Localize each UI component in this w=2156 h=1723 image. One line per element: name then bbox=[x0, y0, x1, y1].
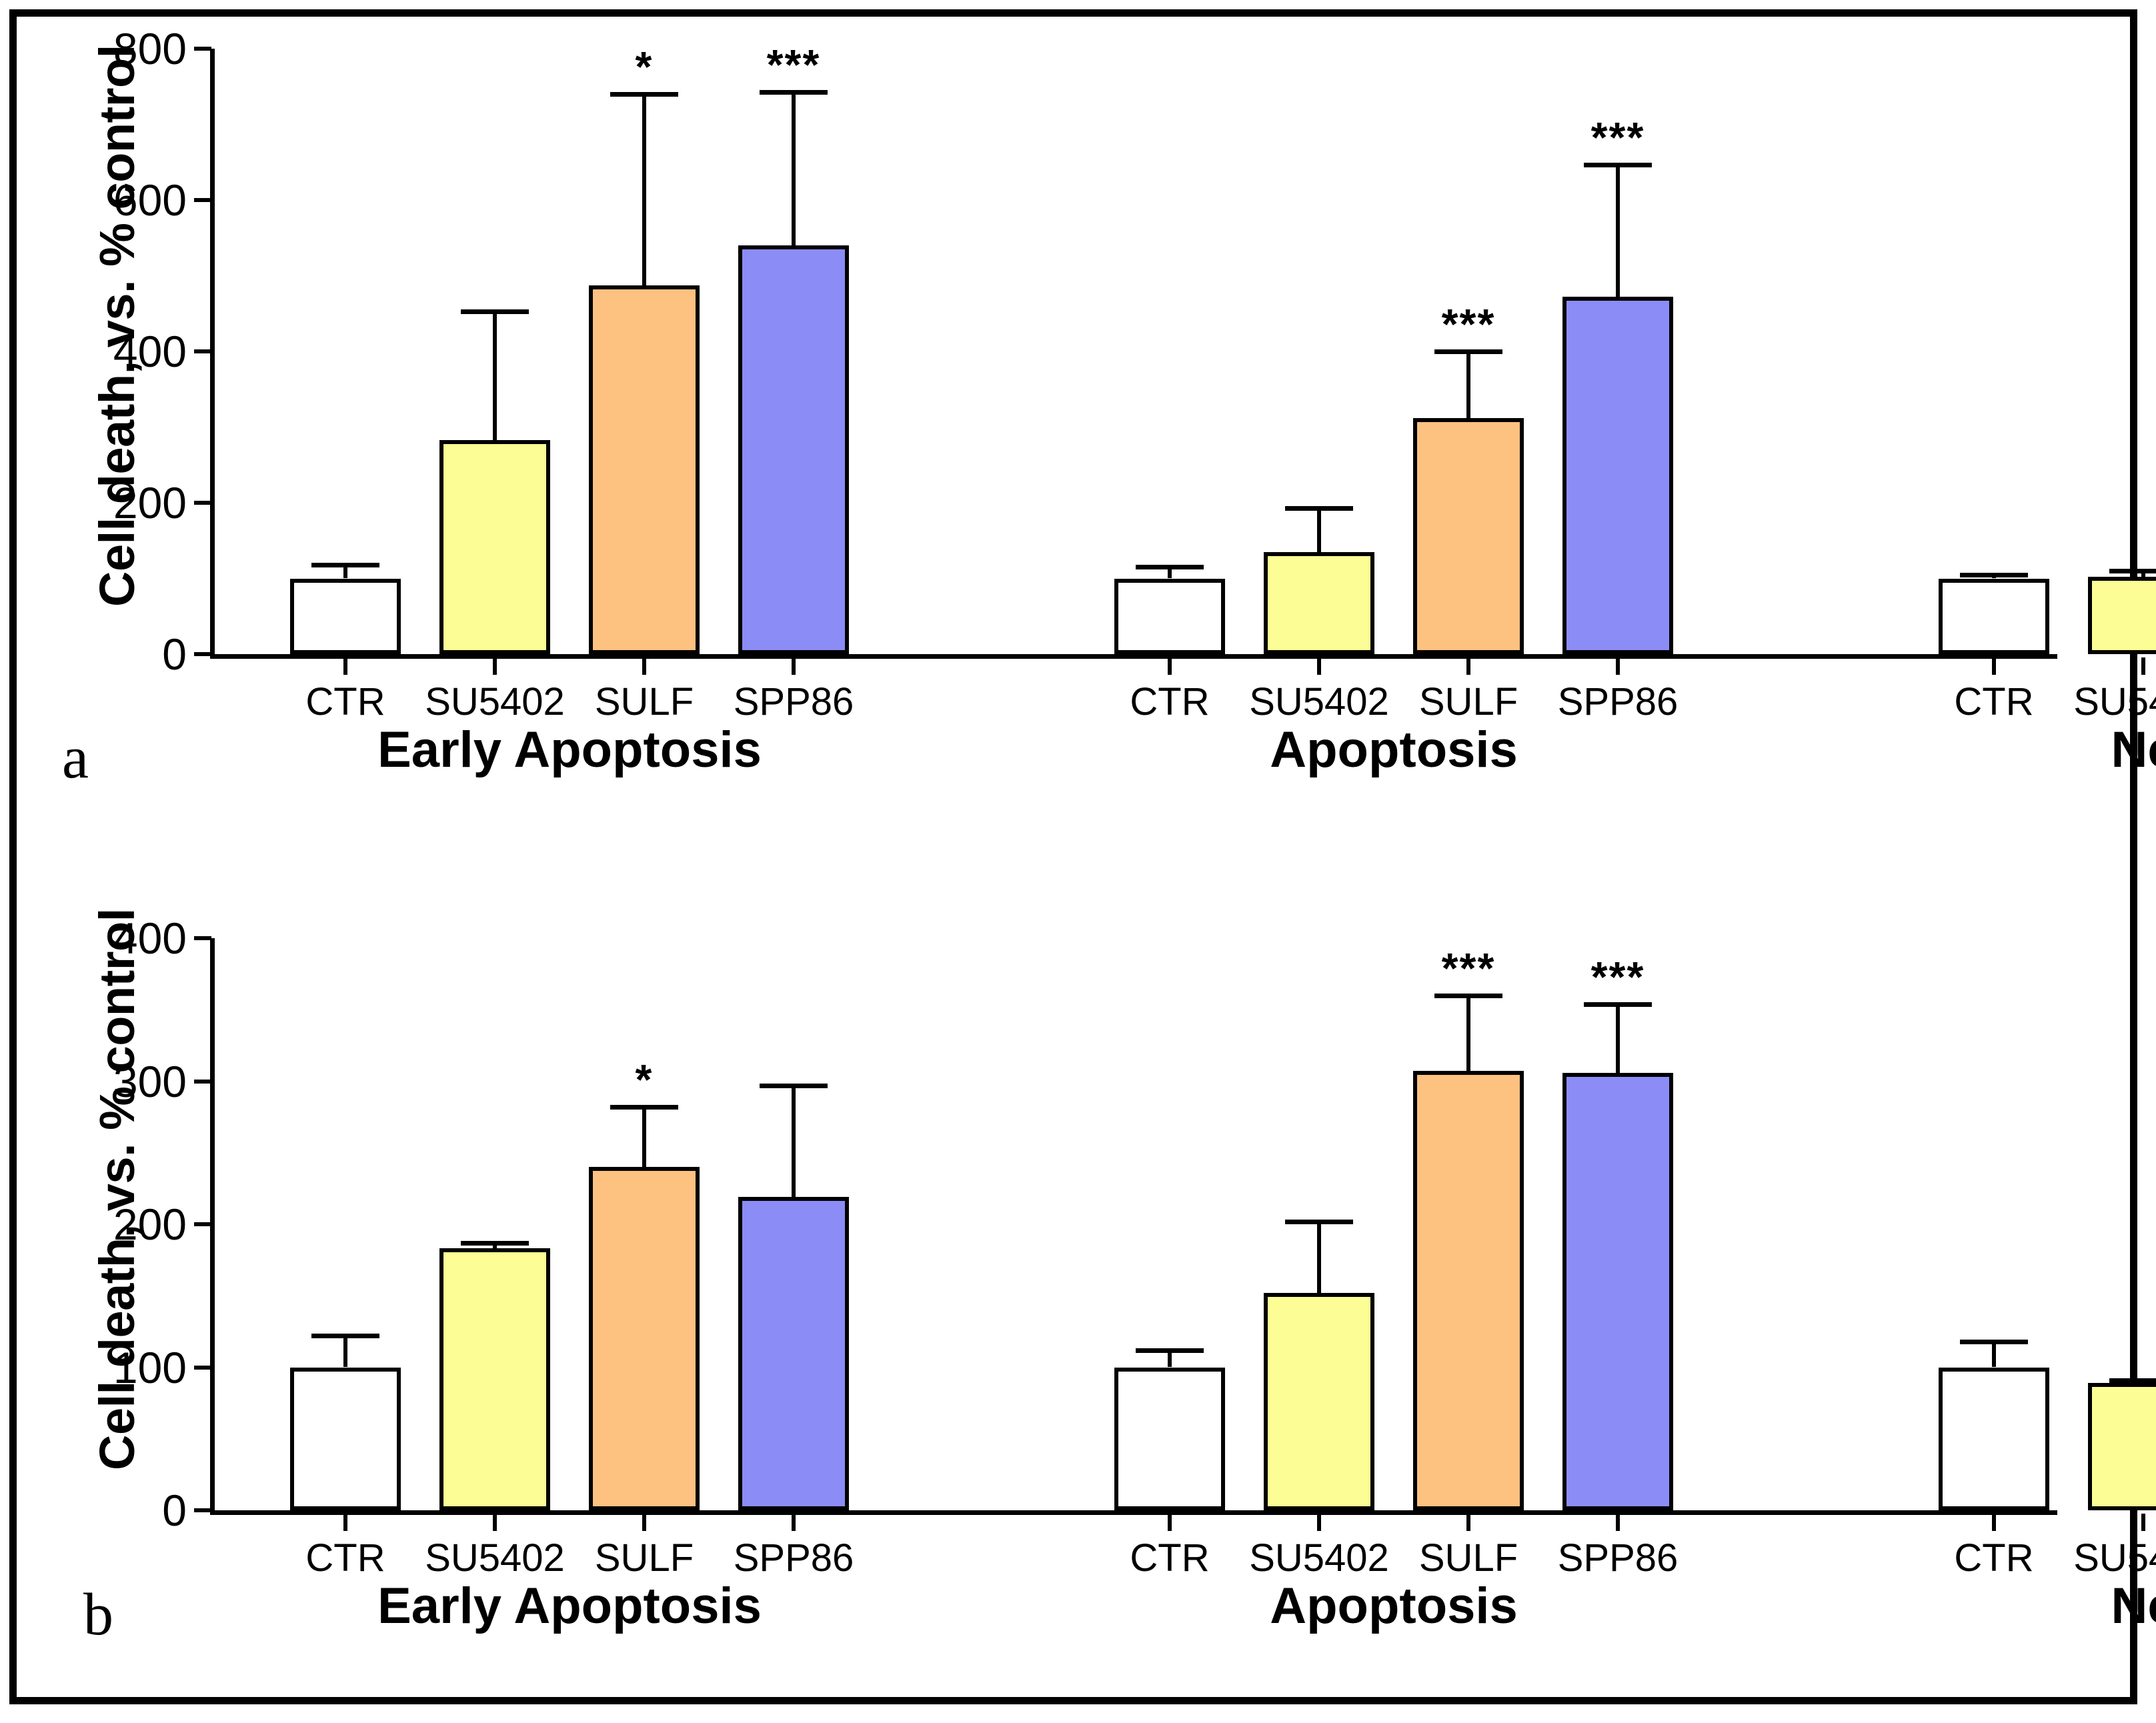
x-axis-tick bbox=[1317, 657, 1321, 675]
error-bar-cap bbox=[1136, 1348, 1204, 1353]
panel-letter: a bbox=[62, 723, 89, 792]
y-axis-tick bbox=[194, 1222, 211, 1226]
error-bar-cap bbox=[610, 92, 679, 97]
y-axis-tick bbox=[194, 47, 211, 51]
y-axis-tick-label: 0 bbox=[43, 1485, 187, 1536]
significance-marker: *** bbox=[1591, 113, 1645, 162]
error-bar-stem bbox=[1317, 508, 1321, 552]
x-axis-tick bbox=[1168, 657, 1172, 675]
y-axis-tick-label: 600 bbox=[43, 175, 187, 225]
y-axis-tick-label: 100 bbox=[43, 1342, 187, 1393]
error-bar-cap bbox=[1584, 1002, 1653, 1007]
bar-ctr bbox=[1939, 579, 2049, 655]
significance-marker: * bbox=[636, 42, 654, 91]
x-axis-category-label: SPP86 bbox=[734, 1536, 854, 1580]
error-bar-cap bbox=[610, 1105, 679, 1110]
error-bar-stem bbox=[493, 311, 497, 440]
significance-marker: * bbox=[636, 1055, 654, 1104]
x-axis-category-label: CTR bbox=[1954, 679, 2033, 724]
x-axis-category-label: SPP86 bbox=[734, 679, 854, 724]
y-axis-tick bbox=[194, 349, 211, 353]
x-axis-line bbox=[210, 654, 2057, 659]
x-axis-tick bbox=[2141, 657, 2145, 675]
y-axis-tick-label: 400 bbox=[43, 913, 187, 964]
significance-marker: *** bbox=[1442, 944, 1496, 993]
bar-su5402 bbox=[1264, 1293, 1374, 1510]
x-axis-tick bbox=[493, 657, 497, 675]
group-label: Early Apoptosis bbox=[377, 721, 762, 779]
error-bar-cap bbox=[1285, 506, 1354, 511]
x-axis-category-label: SU5402 bbox=[1249, 1536, 1389, 1580]
y-axis-tick-label: 0 bbox=[43, 629, 187, 679]
error-bar-cap bbox=[1434, 349, 1503, 354]
bar-spp86 bbox=[1562, 1073, 1673, 1510]
error-bar-stem bbox=[1616, 1004, 1620, 1073]
bar-spp86 bbox=[738, 245, 849, 654]
x-axis-category-label: SPP86 bbox=[1558, 1536, 1679, 1580]
x-axis-category-label: CTR bbox=[305, 679, 385, 724]
bar-su5402 bbox=[439, 440, 550, 654]
bar-su5402 bbox=[439, 1248, 550, 1510]
error-bar-cap bbox=[1434, 994, 1503, 998]
bar-ctr bbox=[290, 1368, 401, 1511]
error-bar-stem bbox=[1992, 1342, 1996, 1368]
bar-sulf bbox=[589, 285, 700, 654]
y-axis-tick-label: 200 bbox=[43, 1199, 187, 1250]
error-bar-cap bbox=[1285, 1220, 1354, 1224]
x-axis-tick bbox=[343, 1514, 347, 1531]
x-axis-tick bbox=[493, 1514, 497, 1531]
x-axis-tick bbox=[792, 657, 796, 675]
x-axis-tick bbox=[1992, 1514, 1996, 1531]
x-axis-tick bbox=[1616, 1514, 1620, 1531]
error-bar-stem bbox=[1317, 1222, 1321, 1293]
x-axis-category-label: SU5402 bbox=[425, 679, 565, 724]
x-axis-category-label: CTR bbox=[305, 1536, 385, 1580]
y-axis-tick bbox=[194, 652, 211, 656]
panel-a-chart: Cell death, vs. % control0200400600800CT… bbox=[17, 17, 2131, 837]
figure-border: Cell death, vs. % control0200400600800CT… bbox=[9, 9, 2137, 1704]
error-bar-cap bbox=[1960, 1340, 2029, 1344]
panel-b-chart: Cell death, vs. % control0100200300400CT… bbox=[17, 910, 2131, 1710]
error-bar-stem bbox=[792, 92, 796, 245]
x-axis-tick bbox=[2141, 1514, 2145, 1531]
error-bar-cap bbox=[1136, 565, 1204, 569]
y-axis-tick-label: 800 bbox=[43, 23, 187, 74]
x-axis-tick bbox=[642, 1514, 646, 1531]
bar-ctr bbox=[1114, 1368, 1225, 1511]
significance-marker: *** bbox=[767, 40, 821, 89]
error-bar-cap bbox=[311, 1334, 380, 1338]
x-axis-tick bbox=[1616, 657, 1620, 675]
x-axis-category-label: SULF bbox=[595, 679, 694, 724]
group-label: Early Apoptosis bbox=[377, 1577, 762, 1635]
error-bar-stem bbox=[642, 1107, 646, 1167]
group-label: Necrosis bbox=[2111, 721, 2156, 779]
bar-sulf bbox=[1413, 1071, 1524, 1510]
x-axis-category-label: CTR bbox=[1130, 1536, 1209, 1580]
group-label: Apoptosis bbox=[1270, 721, 1518, 779]
bar-su5402 bbox=[1264, 552, 1374, 654]
significance-marker: *** bbox=[1591, 952, 1645, 1002]
error-bar-cap bbox=[2109, 569, 2156, 573]
bar-ctr bbox=[1114, 579, 1225, 655]
error-bar-cap bbox=[1584, 163, 1653, 167]
error-bar-stem bbox=[1466, 996, 1470, 1072]
panel-letter: b bbox=[83, 1580, 113, 1649]
x-axis-line bbox=[210, 1510, 2057, 1515]
x-axis-tick bbox=[1168, 1514, 1172, 1531]
y-axis-tick bbox=[194, 1508, 211, 1512]
y-axis-tick bbox=[194, 1080, 211, 1084]
x-axis-category-label: SULF bbox=[1419, 1536, 1518, 1580]
x-axis-tick bbox=[642, 657, 646, 675]
bar-sulf bbox=[1413, 418, 1524, 654]
error-bar-cap bbox=[461, 1241, 529, 1246]
bar-su5402 bbox=[2088, 1383, 2156, 1510]
y-axis-tick bbox=[194, 936, 211, 940]
x-axis-category-label: SU5402 bbox=[2073, 1536, 2156, 1580]
x-axis-category-label: CTR bbox=[1130, 679, 1209, 724]
bar-sulf bbox=[589, 1167, 700, 1510]
x-axis-tick bbox=[343, 657, 347, 675]
y-axis-tick-label: 200 bbox=[43, 477, 187, 528]
x-axis-tick bbox=[1466, 1514, 1470, 1531]
error-bar-cap bbox=[1960, 573, 2029, 577]
bar-spp86 bbox=[1562, 297, 1673, 654]
x-axis-tick bbox=[792, 1514, 796, 1531]
x-axis-tick bbox=[1466, 657, 1470, 675]
error-bar-stem bbox=[343, 1336, 347, 1367]
x-axis-tick bbox=[1317, 1514, 1321, 1531]
x-axis-category-label: SULF bbox=[595, 1536, 694, 1580]
bar-su5402 bbox=[2088, 577, 2156, 654]
error-bar-stem bbox=[792, 1086, 796, 1197]
error-bar-cap bbox=[2109, 1378, 2156, 1383]
x-axis-category-label: SPP86 bbox=[1558, 679, 1679, 724]
error-bar-cap bbox=[760, 90, 828, 95]
x-axis-category-label: SULF bbox=[1419, 679, 1518, 724]
bar-ctr bbox=[1939, 1368, 2049, 1511]
y-axis-tick bbox=[194, 198, 211, 202]
x-axis-tick bbox=[1992, 657, 1996, 675]
error-bar-cap bbox=[461, 309, 529, 314]
y-axis-tick bbox=[194, 1366, 211, 1370]
error-bar-cap bbox=[311, 563, 380, 567]
error-bar-cap bbox=[760, 1084, 828, 1088]
x-axis-category-label: SU5402 bbox=[2073, 679, 2156, 724]
error-bar-stem bbox=[1466, 351, 1470, 418]
error-bar-stem bbox=[1616, 165, 1620, 297]
y-axis-tick-label: 300 bbox=[43, 1056, 187, 1107]
x-axis-category-label: CTR bbox=[1954, 1536, 2033, 1580]
group-label: Apoptosis bbox=[1270, 1577, 1518, 1635]
bar-spp86 bbox=[738, 1197, 849, 1510]
x-axis-category-label: SU5402 bbox=[1249, 679, 1389, 724]
significance-marker: *** bbox=[1442, 299, 1496, 349]
y-axis-tick-label: 400 bbox=[43, 326, 187, 377]
x-axis-category-label: SU5402 bbox=[425, 1536, 565, 1580]
y-axis-tick bbox=[194, 501, 211, 505]
group-label: Necrosis bbox=[2111, 1577, 2156, 1635]
bar-ctr bbox=[290, 579, 401, 655]
error-bar-stem bbox=[642, 94, 646, 285]
